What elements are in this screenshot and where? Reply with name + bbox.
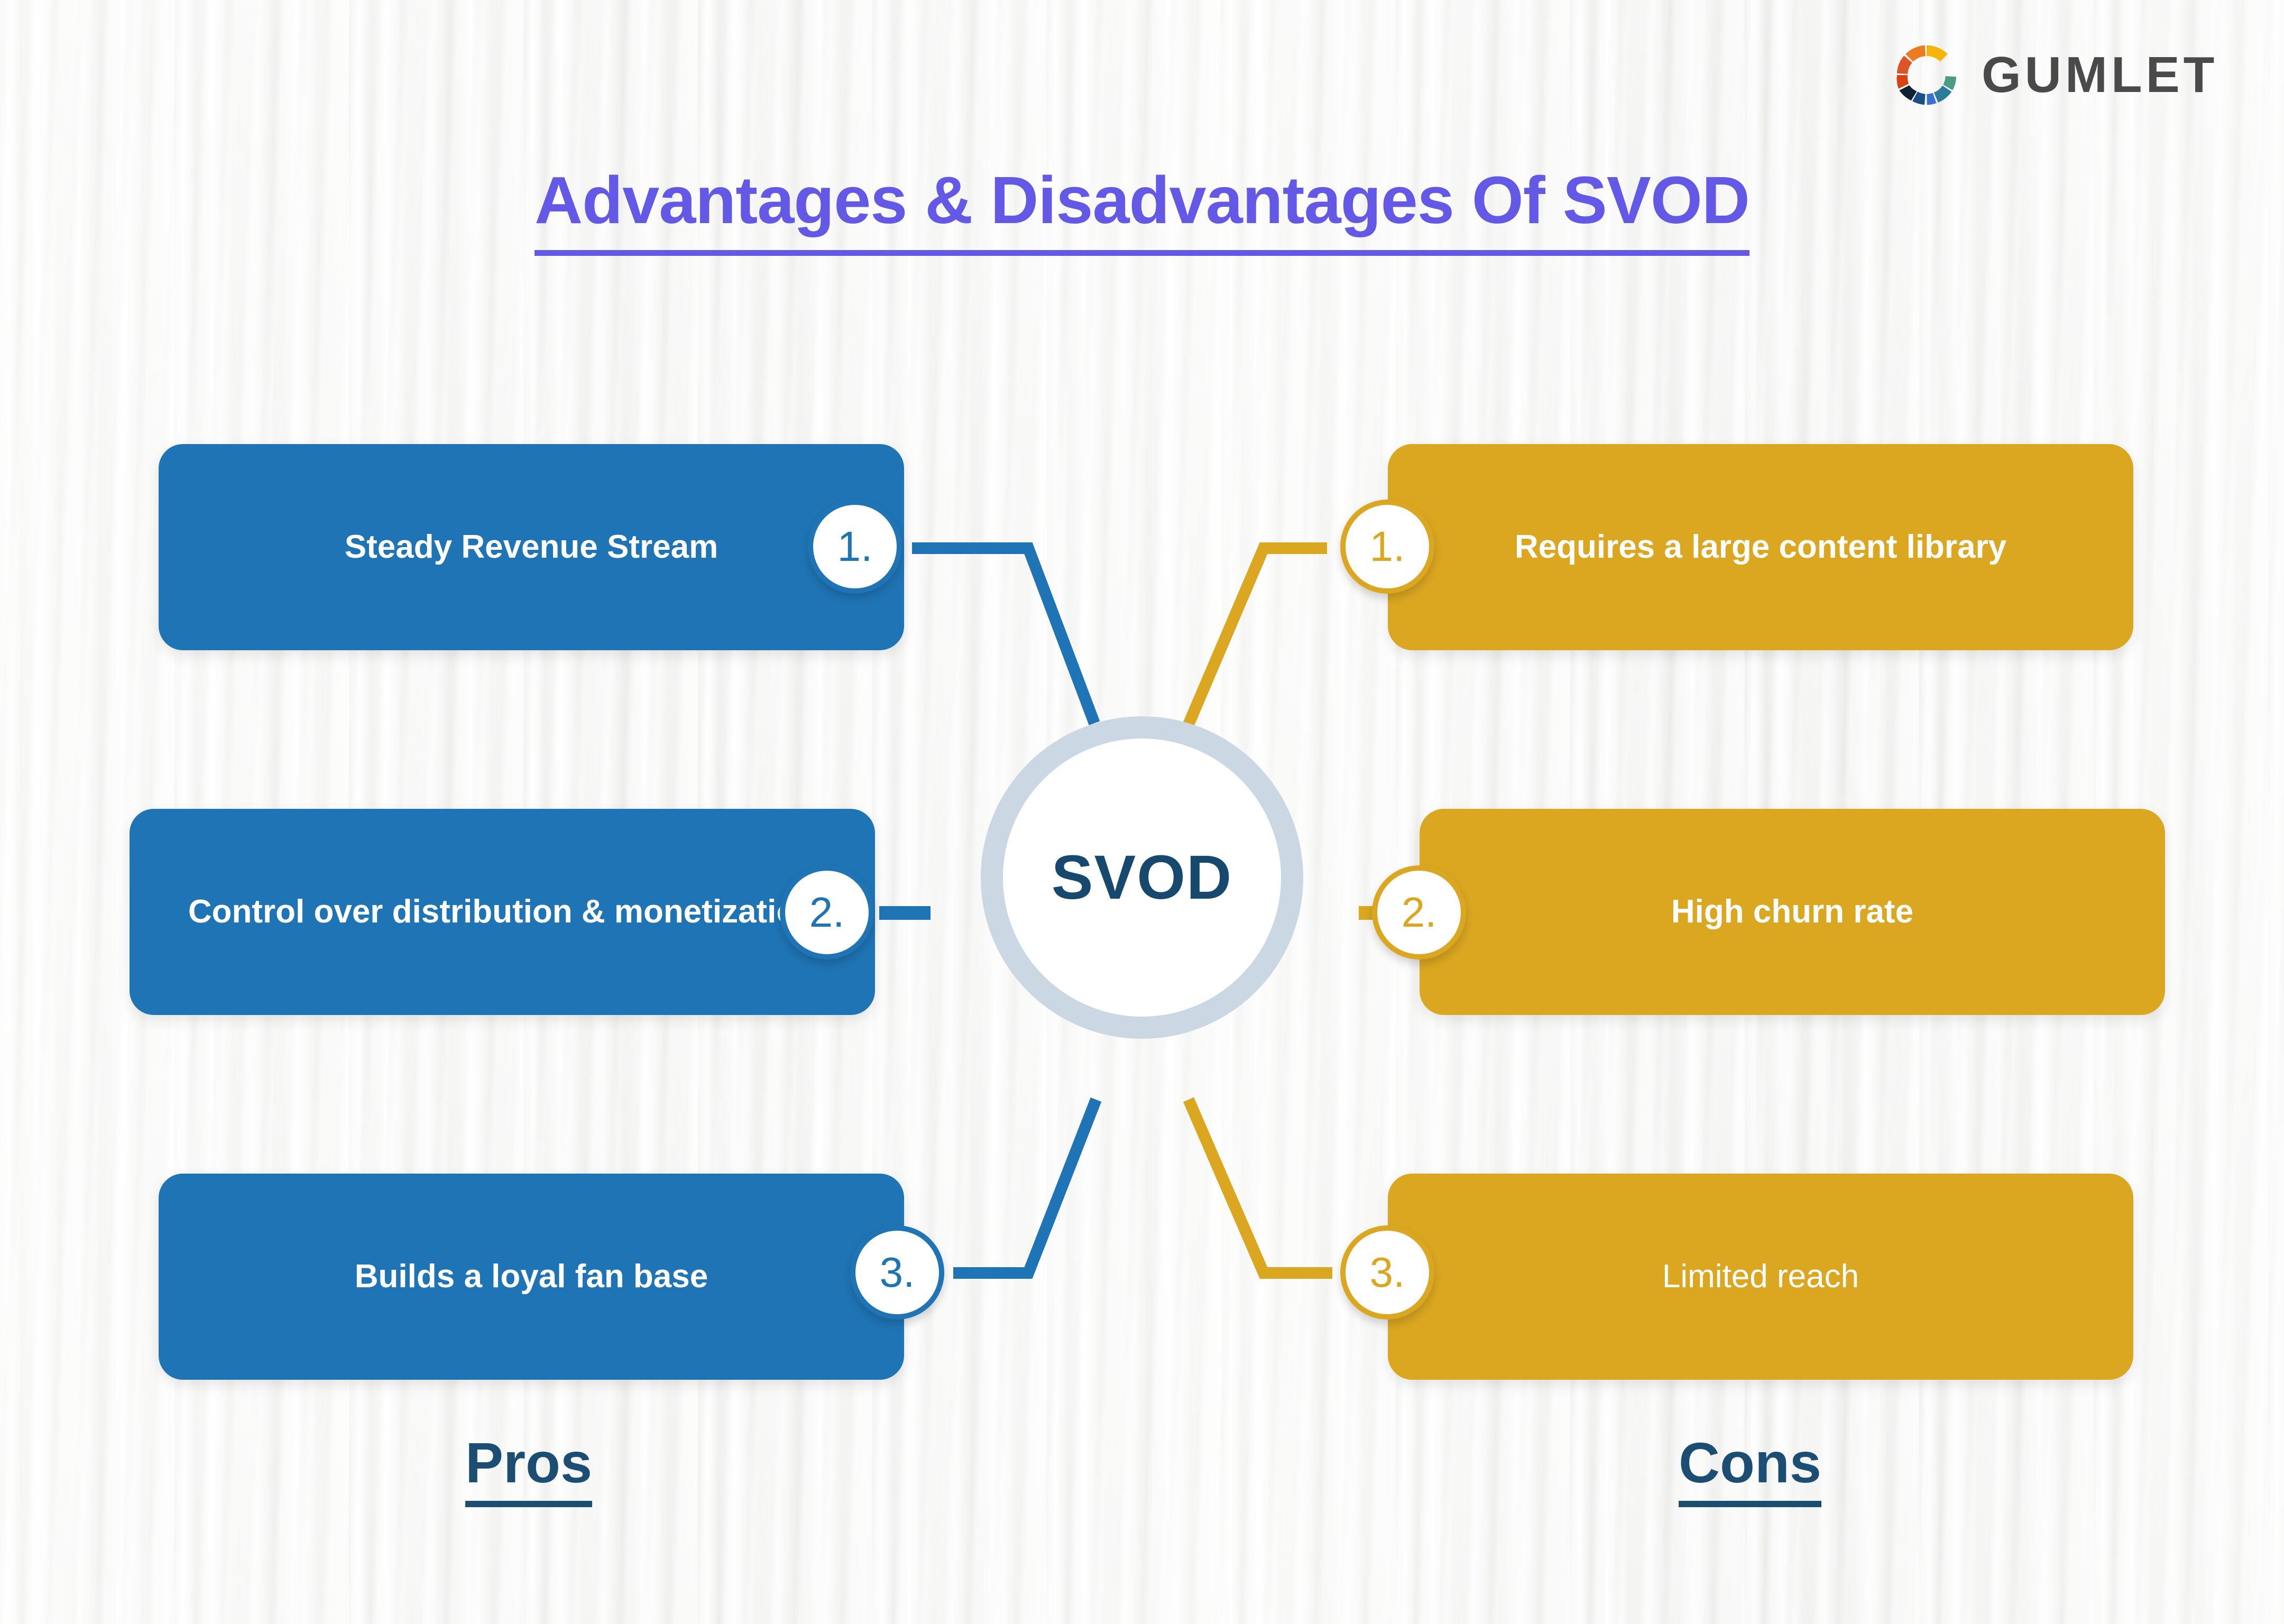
pro-badge-1-number: 1.: [837, 522, 873, 571]
con-badge-1[interactable]: 1.: [1340, 500, 1434, 594]
connector-pro-1: [912, 548, 1094, 723]
pro-badge-3-number: 3.: [880, 1248, 915, 1297]
con-badge-1-number: 1.: [1370, 522, 1405, 571]
connector-pro-3: [953, 1100, 1096, 1273]
center-hub: SVOD: [981, 716, 1303, 1039]
pro-badge-1[interactable]: 1.: [808, 500, 902, 594]
con-badge-3-number: 3.: [1370, 1248, 1405, 1297]
con-badge-2[interactable]: 2.: [1372, 865, 1466, 959]
con-badge-3[interactable]: 3.: [1340, 1225, 1434, 1319]
pro-badge-2[interactable]: 2.: [780, 865, 874, 959]
connector-con-1: [1189, 548, 1327, 724]
con-badge-2-number: 2.: [1402, 888, 1437, 937]
connector-con-3: [1189, 1100, 1332, 1273]
pro-badge-2-number: 2.: [809, 888, 845, 937]
hub-label: SVOD: [1052, 842, 1232, 914]
pro-badge-3[interactable]: 3.: [850, 1225, 944, 1319]
